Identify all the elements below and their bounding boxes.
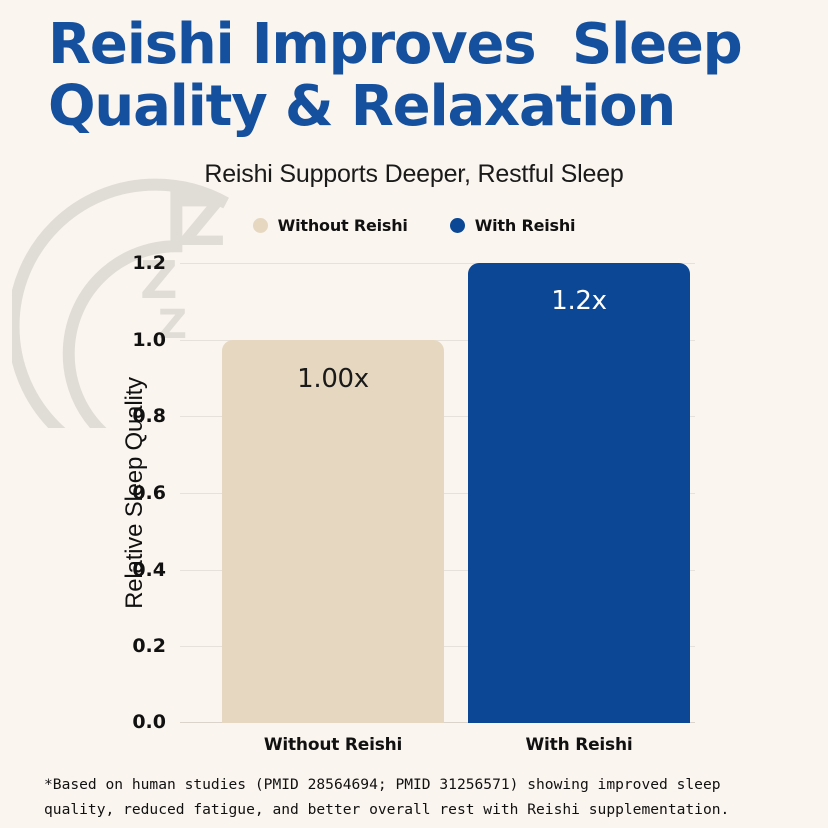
legend-label: With Reishi: [475, 216, 576, 235]
y-tick-label: 0.0: [132, 711, 166, 733]
chart-subtitle: Reishi Supports Deeper, Restful Sleep: [0, 160, 828, 189]
y-tick-label: 0.2: [132, 635, 166, 657]
legend-item-with-reishi: With Reishi: [450, 216, 576, 235]
legend-swatch-icon: [450, 218, 465, 233]
y-tick-label: 0.4: [132, 559, 166, 581]
y-tick-label: 0.6: [132, 482, 166, 504]
legend-swatch-icon: [253, 218, 268, 233]
chart-legend: Without Reishi With Reishi: [0, 216, 828, 235]
legend-item-without-reishi: Without Reishi: [253, 216, 408, 235]
chart-plot-area: 1.2 1.0 0.8 0.6 0.4 0.2 0.0 1.00x Withou…: [180, 263, 695, 723]
footnote: *Based on human studies (PMID 28564694; …: [44, 772, 792, 822]
title-line-2: Quality & Relaxation: [48, 76, 788, 138]
y-tick-label: 0.8: [132, 405, 166, 427]
legend-label: Without Reishi: [278, 216, 408, 235]
bar-without-reishi[interactable]: 1.00x Without Reishi: [222, 340, 444, 723]
title-line-1: Reishi Improves Sleep: [48, 14, 788, 76]
infographic-canvas: Reishi Improves Sleep Quality & Relaxati…: [0, 0, 828, 828]
bar-value-label: 1.2x: [468, 286, 690, 316]
x-tick-label: Without Reishi: [192, 735, 474, 755]
bar-value-label: 1.00x: [222, 364, 444, 394]
bar-with-reishi[interactable]: 1.2x With Reishi: [468, 263, 690, 723]
x-tick-label: With Reishi: [438, 735, 720, 755]
y-tick-label: 1.0: [132, 329, 166, 351]
page-title: Reishi Improves Sleep Quality & Relaxati…: [48, 14, 788, 138]
y-tick-label: 1.2: [132, 252, 166, 274]
